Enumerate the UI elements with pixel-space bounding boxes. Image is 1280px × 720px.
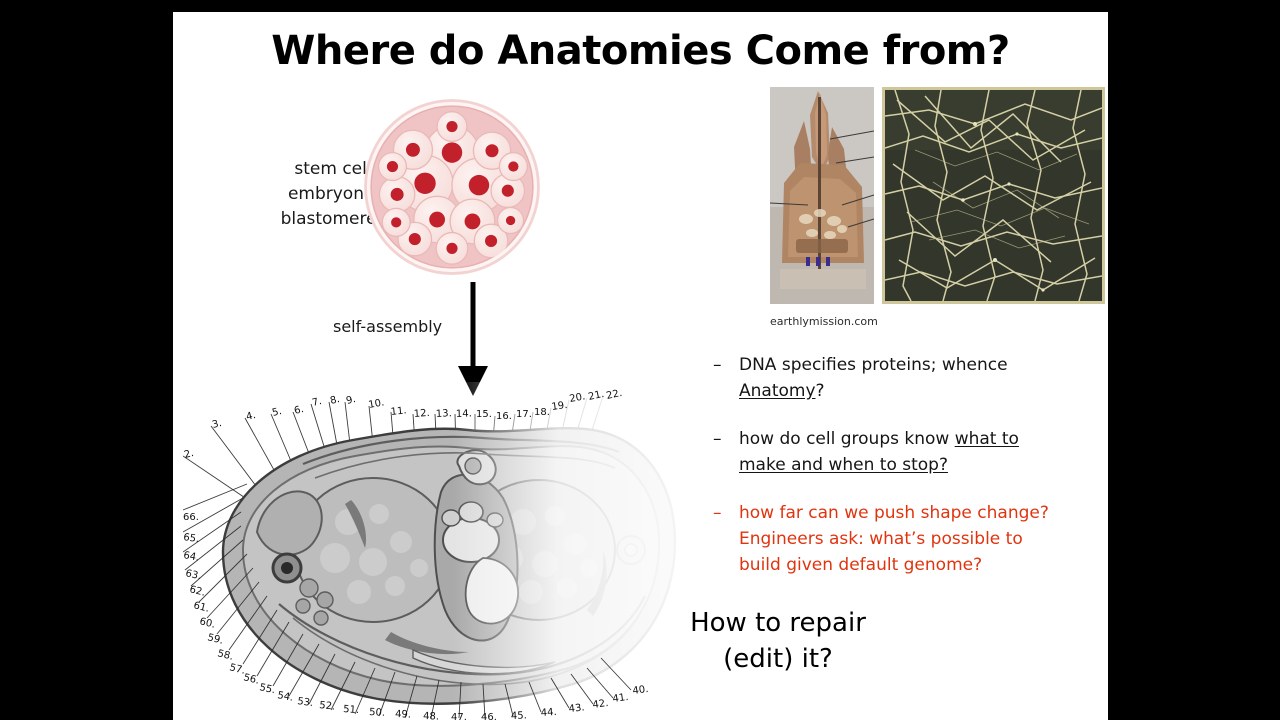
svg-text:19.: 19. — [551, 400, 568, 413]
bullet-line: how do cell groups know — [739, 429, 955, 449]
self-assembly-label: self-assembly — [333, 317, 442, 336]
bullet-item-cell-groups: – how do cell groups know what to make a… — [713, 426, 1103, 478]
bullet-text: how do cell groups know what to make and… — [713, 426, 1103, 478]
svg-text:12.: 12. — [413, 408, 430, 420]
bullet-line: build given default genome? — [739, 555, 982, 575]
svg-text:47.: 47. — [451, 712, 467, 720]
photo-credit-label: earthlymission.com — [770, 315, 874, 328]
slide-stage: Where do Anatomies Come from? stem cell … — [0, 0, 1280, 720]
spider-web-photo — [882, 87, 1105, 304]
presentation-slide: Where do Anatomies Come from? stem cell … — [173, 12, 1108, 720]
svg-text:50.: 50. — [369, 707, 385, 719]
bullet-dash-icon: – — [713, 352, 722, 378]
svg-text:49.: 49. — [395, 709, 411, 720]
bullet-list: – DNA specifies proteins; whence Anatomy… — [713, 352, 1103, 600]
bullet-item-shape-change: – how far can we push shape change? Engi… — [713, 500, 1103, 578]
svg-text:11.: 11. — [390, 405, 407, 418]
svg-text:45.: 45. — [511, 710, 527, 720]
svg-text:52.: 52. — [319, 700, 336, 713]
svg-text:15.: 15. — [476, 409, 492, 420]
bullet-line: DNA specifies proteins; whence — [739, 355, 1008, 375]
svg-text:17.: 17. — [516, 409, 532, 420]
svg-text:51.: 51. — [343, 704, 360, 716]
svg-text:53.: 53. — [297, 696, 314, 709]
bullet-dash-icon: – — [713, 500, 722, 526]
bullet-line-emphasis: Anatomy — [739, 381, 816, 401]
bullet-line-tail: ? — [816, 381, 825, 401]
bullet-line-emphasis: make and when to stop? — [739, 455, 948, 475]
svg-text:44.: 44. — [540, 707, 557, 719]
bullet-text: how far can we push shape change? Engine… — [713, 500, 1103, 578]
svg-text:46.: 46. — [481, 712, 497, 720]
termite-mound-photo — [770, 87, 874, 304]
svg-text:40.: 40. — [632, 684, 649, 697]
svg-text:41.: 41. — [612, 692, 629, 705]
bullet-line: how far can we push shape change? — [739, 503, 1049, 523]
repair-question: How to repair (edit) it? — [633, 605, 923, 677]
svg-text:14.: 14. — [456, 408, 472, 420]
svg-text:13.: 13. — [436, 408, 452, 420]
svg-text:48.: 48. — [423, 711, 439, 720]
anatomy-cross-section-diagram: . 2. 3. 4. 5. 6. 7. 8. 9. 10. 11. 12. 13… — [183, 382, 703, 720]
bullet-line-emphasis: what to — [955, 429, 1019, 449]
repair-question-line-1: How to repair — [633, 605, 923, 641]
blastomere-embryo-illustration — [359, 94, 545, 280]
termite-mound-illustration — [770, 87, 874, 304]
bullet-dash-icon: – — [713, 426, 722, 452]
bullet-line: Engineers ask: what’s possible to — [739, 529, 1023, 549]
svg-text:18.: 18. — [534, 407, 550, 418]
spider-web-illustration — [885, 90, 1102, 301]
bullet-text: DNA specifies proteins; whence Anatomy? — [713, 352, 1103, 404]
reference-photo-row: earthlymission.com — [770, 87, 1105, 312]
repair-question-line-2: (edit) it? — [633, 641, 923, 677]
svg-text:65.: 65. — [183, 532, 200, 545]
svg-text:43.: 43. — [568, 702, 585, 715]
bullet-item-dna: – DNA specifies proteins; whence Anatomy… — [713, 352, 1103, 404]
svg-text:16.: 16. — [496, 411, 512, 422]
svg-text:66.: 66. — [183, 512, 199, 523]
page-title: Where do Anatomies Come from? — [173, 28, 1108, 74]
svg-text:42.: 42. — [592, 698, 609, 711]
